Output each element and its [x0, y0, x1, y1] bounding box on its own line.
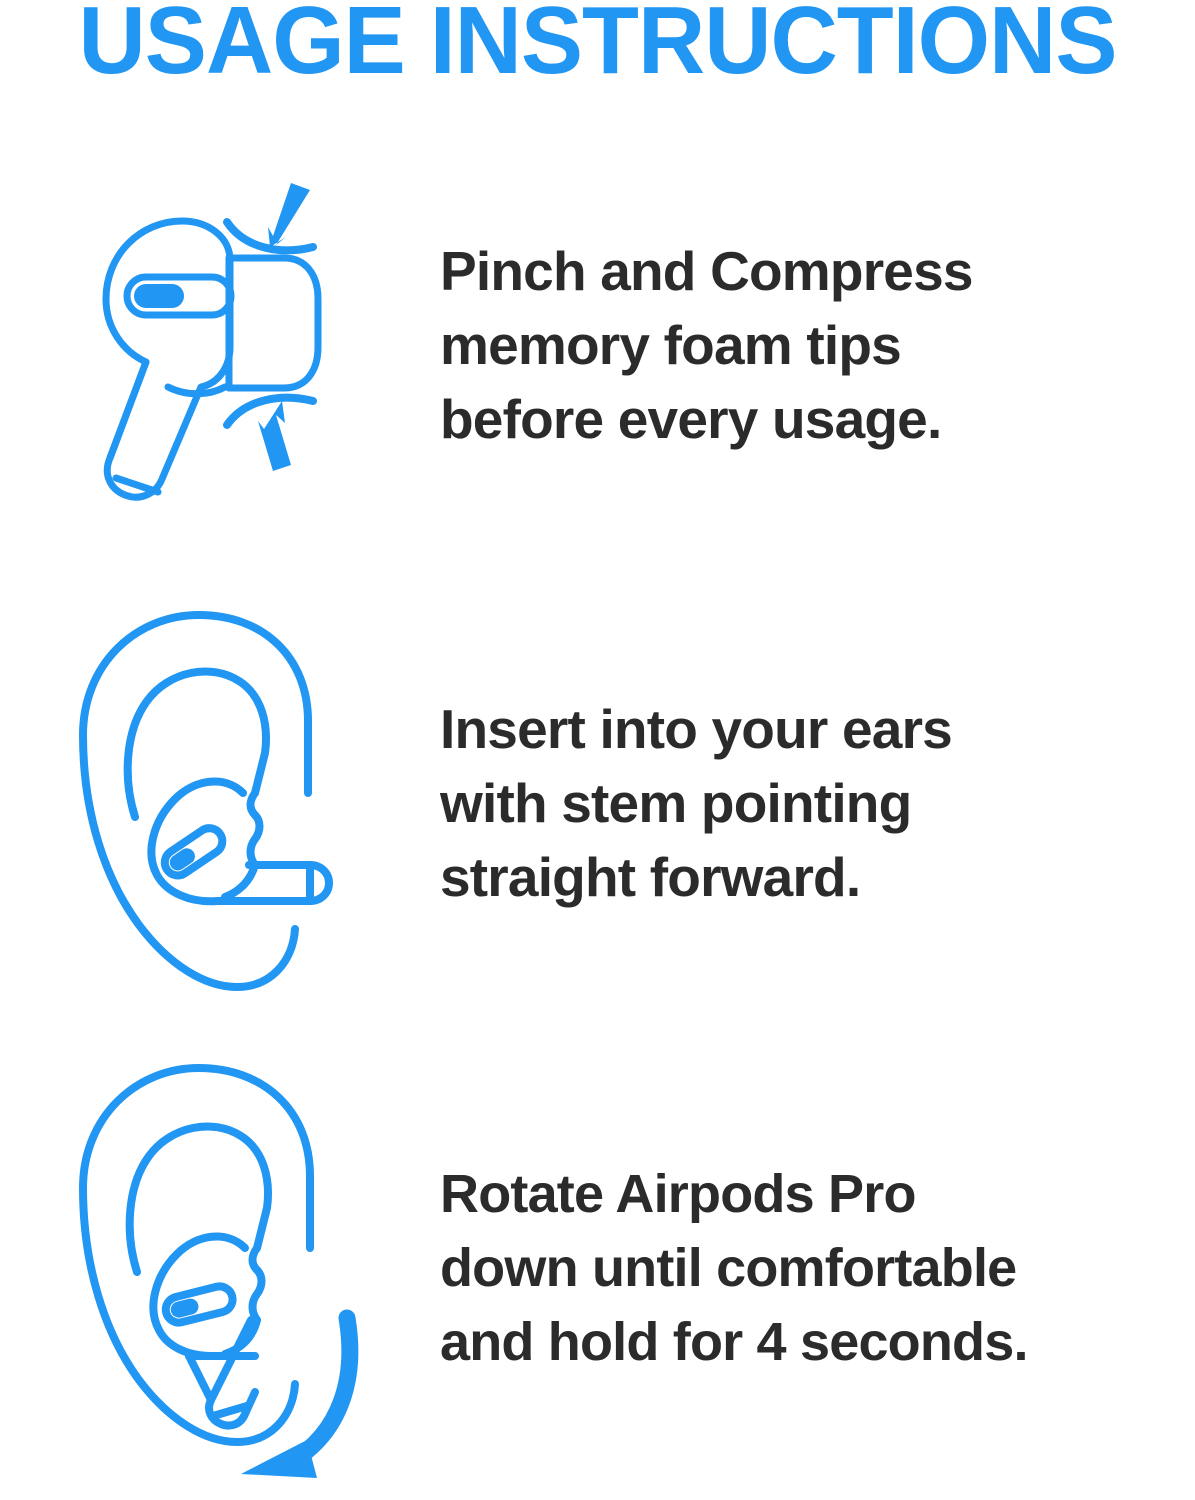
step-3-text-line: down until comfortable [440, 1231, 1181, 1305]
step-1-illustration [0, 120, 440, 570]
compress-arrow-up-icon [258, 401, 291, 471]
step-row: Rotate Airpods Pro down until comfortabl… [0, 1035, 1195, 1500]
step-2-text-line: Insert into your ears [440, 692, 1181, 766]
airpod-with-foam-tip-and-compression-arrows-icon [70, 175, 370, 515]
step-1-text: Pinch and Compress memory foam tips befo… [440, 234, 1195, 456]
step-1-text-line: before every usage. [440, 382, 1181, 456]
step-row: Pinch and Compress memory foam tips befo… [0, 120, 1195, 570]
step-1-text-line: Pinch and Compress [440, 234, 1181, 308]
step-3-illustration [0, 1035, 440, 1500]
step-2-illustration [0, 570, 440, 1035]
compress-arrow-down-icon [268, 183, 310, 247]
ear-with-airpod-rotated-down-arrow-icon [55, 1048, 385, 1488]
usage-instructions-page: USAGE INSTRUCTIONS [0, 0, 1195, 1500]
page-title: USAGE INSTRUCTIONS [18, 0, 1177, 96]
ear-with-airpod-stem-forward-icon [65, 603, 375, 1003]
step-2-text-line: with stem pointing [440, 766, 1181, 840]
step-1-text-line: memory foam tips [440, 308, 1181, 382]
steps-list: Pinch and Compress memory foam tips befo… [0, 120, 1195, 1500]
step-2-text-line: straight forward. [440, 840, 1181, 914]
step-row: Insert into your ears with stem pointing… [0, 570, 1195, 1035]
step-3-text-line: and hold for 4 seconds. [440, 1305, 1181, 1379]
step-3-text-line: Rotate Airpods Pro [440, 1157, 1181, 1231]
step-3-text: Rotate Airpods Pro down until comfortabl… [440, 1157, 1195, 1379]
step-2-text: Insert into your ears with stem pointing… [440, 692, 1195, 914]
